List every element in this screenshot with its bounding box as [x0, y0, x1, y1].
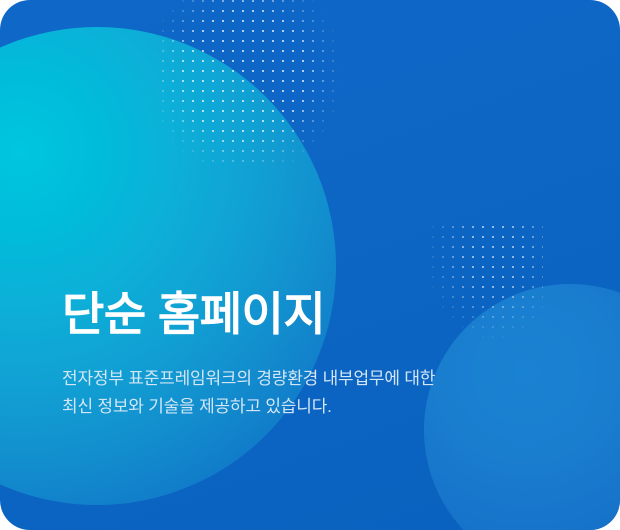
hero-description: 전자정부 표준프레임워크의 경량환경 내부업무에 대한 최신 정보와 기술을 제…	[62, 365, 562, 421]
hero-content: 단순 홈페이지 전자정부 표준프레임워크의 경량환경 내부업무에 대한 최신 정…	[62, 285, 572, 421]
page-title: 단순 홈페이지	[62, 285, 572, 343]
hero-description-line-1: 전자정부 표준프레임워크의 경량환경 내부업무에 대한	[62, 365, 562, 393]
dot-grid-pattern-top-decoration	[158, 0, 348, 166]
hero-banner: 단순 홈페이지 전자정부 표준프레임워크의 경량환경 내부업무에 대한 최신 정…	[0, 0, 620, 530]
cyan-gradient-circle-decoration	[0, 27, 336, 505]
hero-description-line-2: 최신 정보와 기술을 제공하고 있습니다.	[62, 393, 562, 421]
